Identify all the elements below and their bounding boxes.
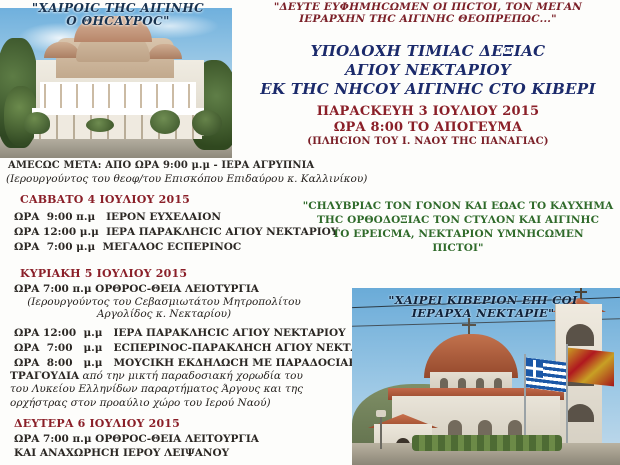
vigil-celebrant: (Ιερουργούντος του θεοφ/του Επισκόπου Επ… (6, 174, 426, 186)
byzantine-flag (568, 348, 614, 387)
day-heading-sunday: ΚΥΡΙΑΚΗ 5 ΙΟΥΛΙΟΥ 2015 (20, 268, 187, 280)
day-heading-saturday: CΑΒΒΑΤΟ 4 ΙΟΥΛΙΟΥ 2015 (20, 194, 190, 206)
sunday-celebrant: (Ιερουργούντος του Cεβασμιωτάτου Μητροπο… (14, 296, 314, 321)
location-note: (ΠΛΗCΙΟΝ ΤΟΥ Ι. ΝΑΟΥ ΤΗC ΠΑΝΑΓΙΑC) (236, 136, 620, 147)
shrub-left (24, 112, 50, 134)
main-date-time: ΠΑΡΑCΚΕΥΗ 3 ΙΟΥΛΙΟΥ 2015 ΩΡΑ 8:00 ΤΟ ΑΠΟ… (236, 104, 620, 137)
photo-aegina-monastery (0, 8, 232, 158)
schedule-sunday-rest: ΩΡΑ 12:00 μ.μ ΙΕΡΑ ΠΑΡΑΚΛΗCΙC ΑΓΙΟΥ ΝΕΚΤ… (14, 326, 388, 371)
event-note-bold: ΤΡΑΓΟΥΔΙΑ (10, 370, 79, 382)
street-lamp-post (380, 415, 382, 449)
vigil-line: ΑΜΕCΩC ΜΕΤΑ: ΑΠΟ ΩΡΑ 9:00 μ.μ - ΙΕΡΑ ΑΓΡ… (8, 160, 438, 171)
shrub-right (192, 110, 222, 136)
sunday-event-note: ΤΡΑΓΟΥΔΙΑ από την μικτή παραδοσιακή χορω… (10, 370, 350, 410)
poster-canvas: "ΧΑΙΡΟΙC ΤΗC ΑΙΓΙΝΗC Ο ΘΗCΑΥΡΟC" "ΔΕΥΤΕ … (0, 0, 620, 465)
hymn-quote-top: "ΔΕΥΤΕ ΕΥΦΗΜΗCΩΜΕΝ ΟΙ ΠΙCΤΟΙ, ΤΟΝ ΜΕΓΑΝ … (236, 2, 620, 26)
page-title: ΥΠΟΔΟΧΗ ΤΙΜΙΑC ΔΕΞΙΑC ΑΓΙΟΥ ΝΕΚΤΑΡΙΟΥ ΕΚ… (236, 42, 620, 100)
hymn-quote-green: "CΗΛΥΒΡΙΑC ΤΟΝ ΓΟΝΟΝ ΚΑΙ ΕΩΑC ΤΟ ΚΑΥΧΗΜΑ… (296, 200, 620, 256)
schedule-monday: ΩΡΑ 7:00 π.μ ΟΡΘΡΟC-ΘΕΙΑ ΛΕΙΤΟΥΡΓΙΑ ΚΑΙ … (14, 432, 259, 460)
schedule-sunday-first: ΩΡΑ 7:00 π.μ ΟΡΘΡΟC-ΘΕΙΑ ΛΕΙΟΤΥΡΓΙΑ (14, 282, 259, 297)
bell-tower-window-top (566, 324, 594, 346)
dome-cross-horizontal (462, 324, 476, 326)
street-lamp-head (376, 410, 386, 417)
photo-kiveri-caption: "ΧΑΙΡΕΙ ΚΙΒΕΡΙΟΝ ΕΠΙ CΟΙ ΙΕΡΑΡΧΑ ΝΕΚΤΑΡΙ… (358, 294, 608, 320)
garden-plants (412, 435, 562, 451)
courtyard-bush (86, 118, 114, 132)
shrub-center (150, 110, 180, 134)
schedule-saturday: ΩΡΑ 9:00 π.μ ΙΕΡΟΝ ΕΥΧΕΛΑΙΟΝ ΩΡΑ 12:00 μ… (14, 210, 338, 255)
photo-aegina-caption: "ΧΑΙΡΟΙC ΤΗC ΑΙΓΙΝΗC Ο ΘΗCΑΥΡΟC" (6, 2, 230, 29)
day-heading-monday: ΔΕΥΤΕΡΑ 6 ΙΟΥΛΙΟΥ 2015 (14, 418, 180, 430)
